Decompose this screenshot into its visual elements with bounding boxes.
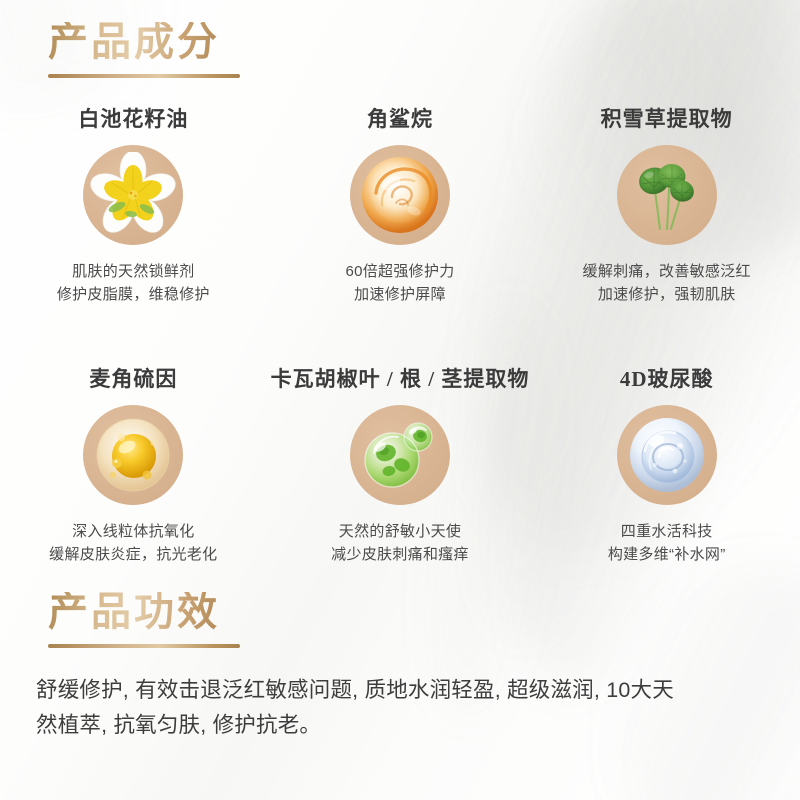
efficacy-heading-text: 产品功效 bbox=[48, 592, 240, 632]
ingredient-card[interactable]: 麦角硫因 bbox=[0, 368, 267, 566]
ingredient-card[interactable]: 卡瓦胡椒叶 / 根 / 茎提取物 bbox=[267, 368, 534, 566]
ingredient-description: 60倍超强修护力 加速修护屏障 bbox=[345, 261, 454, 306]
ingredient-row-1: 白池花籽油 bbox=[0, 108, 800, 306]
ingredient-row-2: 麦角硫因 bbox=[0, 368, 800, 566]
ingredient-swatch bbox=[83, 145, 183, 245]
product-ingredient-infographic: 产品成分 白池花籽油 bbox=[0, 0, 800, 800]
meadowfoam-flower-icon bbox=[90, 152, 176, 238]
ingredient-name: 麦角硫因 bbox=[89, 368, 177, 391]
efficacy-body-text: 舒缓修护, 有效击退泛红敏感问题, 质地水润轻盈, 超级滋润, 10大天 然植萃… bbox=[36, 673, 766, 743]
ingredient-swatch bbox=[617, 145, 717, 245]
golden-serum-droplet-icon bbox=[91, 413, 175, 497]
ingredient-card[interactable]: 白池花籽油 bbox=[0, 108, 267, 306]
heading-underline-rule bbox=[48, 74, 240, 78]
ingredient-description: 天然的舒敏小天使 减少皮肤刺痛和瘙痒 bbox=[331, 521, 469, 566]
ingredient-swatch bbox=[350, 145, 450, 245]
green-gel-bubble-icon bbox=[358, 413, 442, 497]
ingredient-name: 卡瓦胡椒叶 / 根 / 茎提取物 bbox=[271, 368, 530, 391]
ingredients-heading-text: 产品成分 bbox=[48, 22, 240, 62]
ingredient-description: 肌肤的天然锁鲜剂 修护皮脂膜，维稳修护 bbox=[57, 261, 210, 306]
amber-oil-droplet-icon bbox=[358, 153, 442, 237]
blue-water-droplet-icon bbox=[625, 413, 709, 497]
efficacy-section-heading: 产品功效 bbox=[48, 592, 240, 648]
ingredient-swatch bbox=[617, 405, 717, 505]
ingredient-name: 角鲨烷 bbox=[367, 108, 433, 131]
ingredient-card[interactable]: 4D玻尿酸 bbox=[533, 368, 800, 566]
ingredient-swatch bbox=[350, 405, 450, 505]
centella-leaf-icon bbox=[625, 153, 709, 237]
heading-underline-rule bbox=[48, 644, 240, 648]
ingredients-section-heading: 产品成分 bbox=[48, 22, 240, 78]
ingredient-swatch bbox=[83, 405, 183, 505]
ingredient-name: 4D玻尿酸 bbox=[620, 368, 714, 391]
ingredient-description: 深入线粒体抗氧化 缓解皮肤炎症，抗光老化 bbox=[49, 521, 217, 566]
ingredient-description: 四重水活科技 构建多维“补水网” bbox=[608, 521, 726, 566]
ingredient-card[interactable]: 角鲨烷 bbox=[267, 108, 534, 306]
ingredient-card[interactable]: 积雪草提取物 bbox=[533, 108, 800, 306]
ingredient-name: 积雪草提取物 bbox=[601, 108, 733, 131]
ingredient-name: 白池花籽油 bbox=[78, 108, 188, 131]
ingredient-description: 缓解刺痛，改善敏感泛红 加速修护，强韧肌肤 bbox=[583, 261, 751, 306]
